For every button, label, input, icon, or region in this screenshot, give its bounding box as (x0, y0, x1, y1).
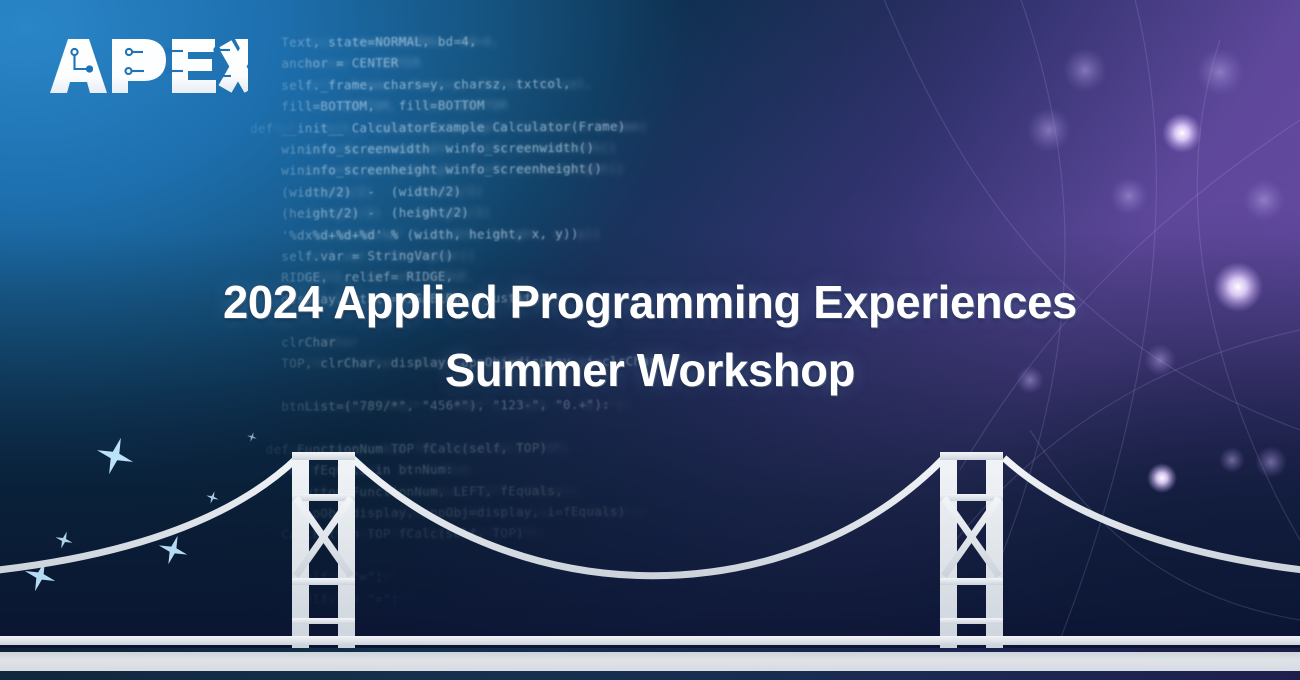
bridge-deck-beam (0, 636, 1300, 645)
deck-bottom-band (0, 671, 1300, 680)
title-line-1: 2024 Applied Programming Experiences (79, 268, 1222, 336)
deck-pale-band (0, 652, 1300, 672)
banner-title: 2024 Applied Programming Experiences Sum… (0, 268, 1300, 404)
banner-hero: Text, state=NORMAL, bd=4, anchor = CENTE… (0, 0, 1300, 680)
apex-logo[interactable] (48, 35, 248, 97)
bridge-hangers-mid (377, 490, 917, 642)
bridge-hangers-left (38, 526, 272, 642)
title-line-2: Summer Workshop (79, 336, 1222, 404)
bridge-illustration (0, 430, 1300, 680)
bridge-hangers-right (1028, 526, 1262, 642)
bridge-tower-left (292, 452, 355, 648)
bridge-tower-right (940, 452, 1003, 648)
